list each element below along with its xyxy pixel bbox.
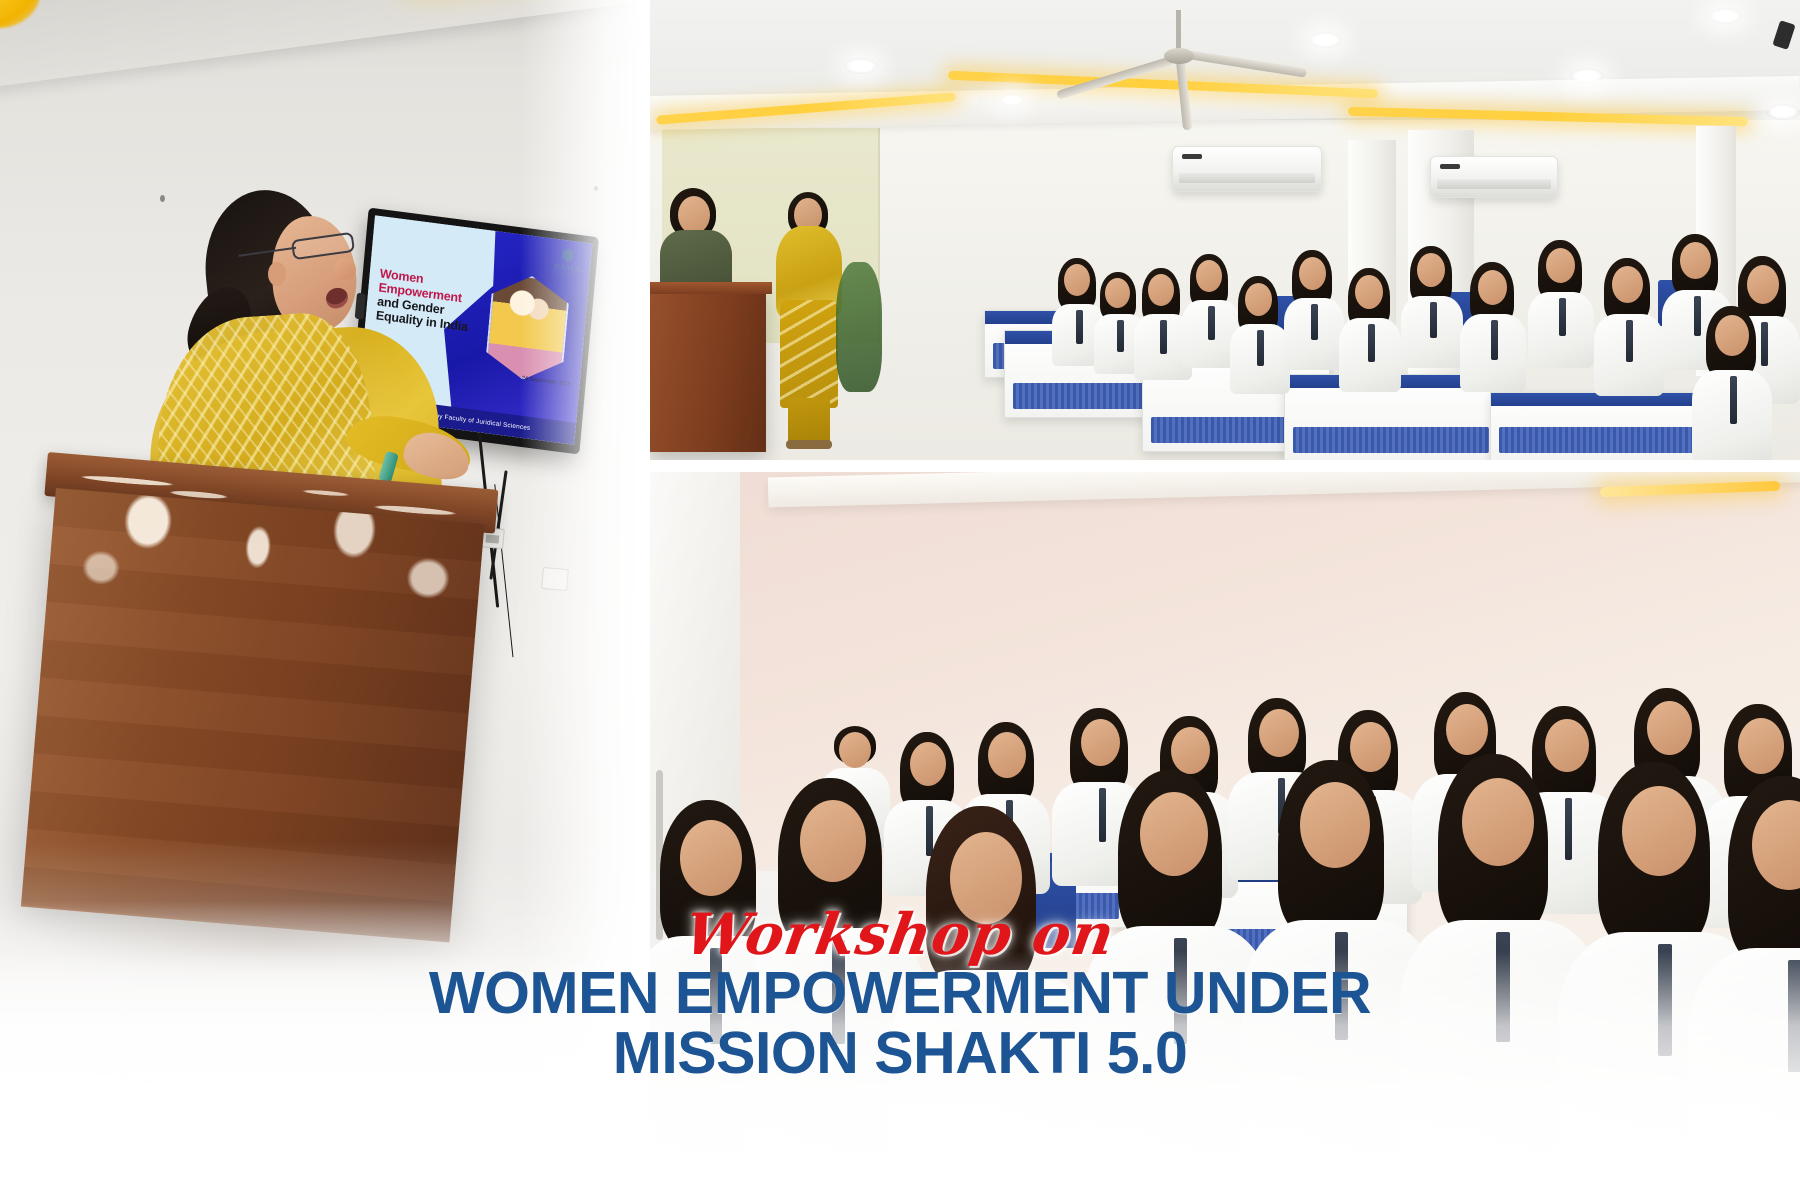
- ceiling-downlight: [1708, 8, 1742, 24]
- potted-plant: [836, 262, 882, 392]
- air-conditioner-unit: [1172, 146, 1322, 192]
- presenter-head: [678, 196, 710, 234]
- wall-speck: [160, 195, 165, 202]
- speaker-ear: [268, 262, 286, 286]
- panel-classroom-wide-view: [648, 0, 1800, 462]
- ceiling-fan-rod: [1176, 10, 1181, 50]
- photo-collage: Women Empowerment and Gender Equality in…: [0, 0, 1800, 1201]
- ceiling-downlight: [844, 58, 878, 74]
- slide-title: Women Empowerment and Gender Equality in…: [375, 266, 472, 334]
- collage-gutter-horizontal: [648, 460, 1800, 472]
- standing-woman-trousers: [788, 398, 830, 444]
- panel-students-audience-closeup: [648, 470, 1800, 1201]
- air-conditioner-unit: [1430, 156, 1558, 198]
- left-photo-edge-fade: [520, 0, 640, 1201]
- ceiling-downlight: [1308, 32, 1342, 48]
- speaker-nose: [335, 258, 356, 280]
- standing-woman-kurta: [780, 300, 838, 408]
- ceiling-downlight: [1570, 68, 1604, 84]
- collage-gutter-vertical: [640, 0, 650, 1201]
- tv-bezel-button: [355, 293, 366, 320]
- ceiling-fan-hub: [1164, 48, 1194, 64]
- lectern-top: [650, 282, 772, 294]
- ceiling-downlight: [1766, 104, 1800, 120]
- standing-woman-sandals: [786, 440, 832, 449]
- ceiling-downlight: [1000, 94, 1024, 106]
- lectern: [650, 288, 766, 452]
- panel-speaker-at-podium: Women Empowerment and Gender Equality in…: [0, 0, 640, 1201]
